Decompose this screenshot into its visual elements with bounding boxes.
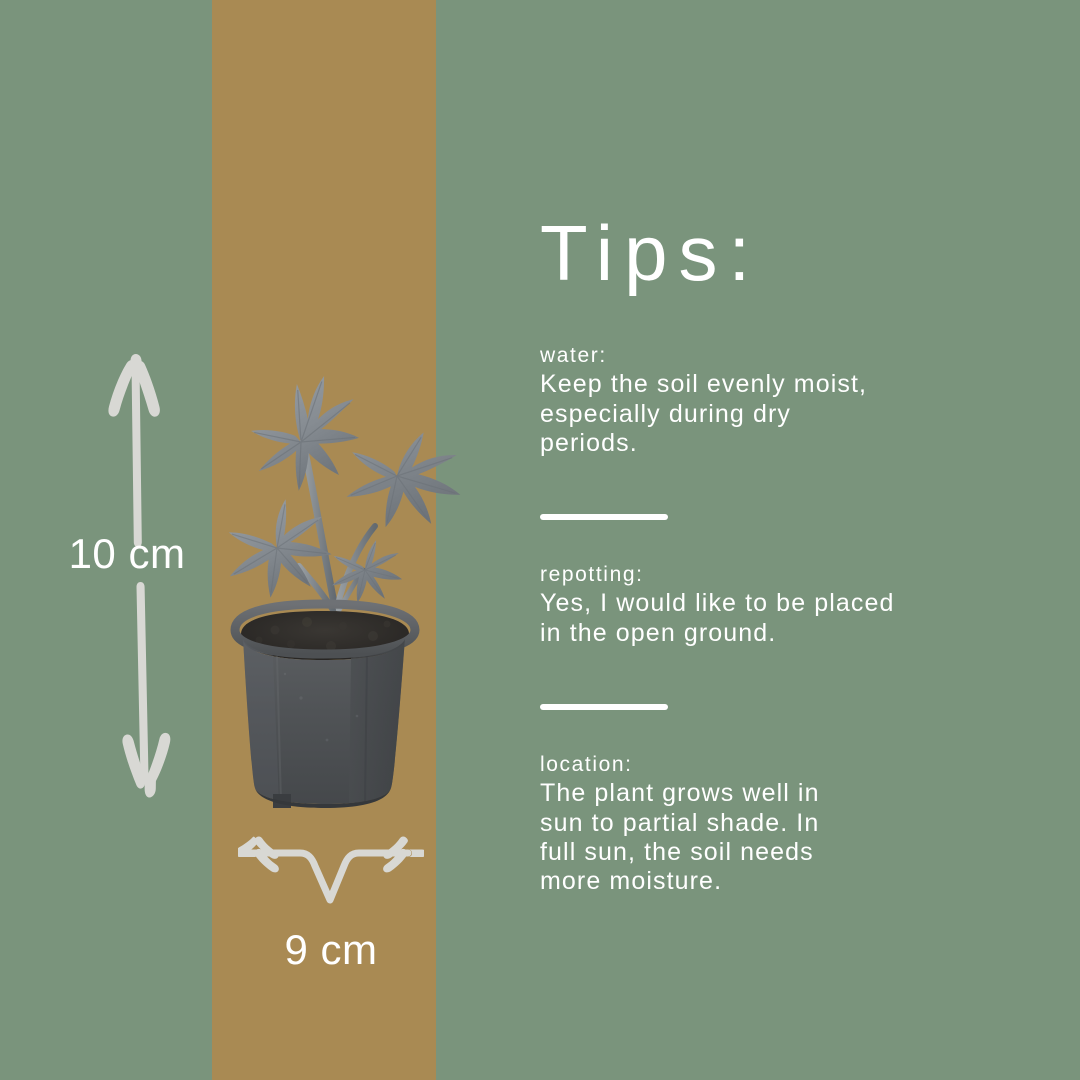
product-plant-image bbox=[215, 368, 485, 810]
tip-body-location: The plant grows well in sun to partial s… bbox=[540, 779, 1040, 896]
tip-item-location: location: The plant grows well in sun to… bbox=[540, 751, 1040, 896]
tip-body-water: Keep the soil evenly moist, especially d… bbox=[540, 370, 1040, 458]
tip-label-repotting: repotting: bbox=[540, 561, 1040, 589]
tip-item-repotting: repotting: Yes, I would like to be place… bbox=[540, 561, 1040, 648]
tips-title: Tips: bbox=[540, 214, 1040, 292]
tip-label-water: water: bbox=[540, 342, 1040, 370]
tip-body-repotting: Yes, I would like to be placed in the op… bbox=[540, 589, 1040, 648]
height-label: 10 cm bbox=[52, 524, 202, 584]
tips-panel: Tips: water: Keep the soil evenly moist,… bbox=[540, 214, 1040, 896]
spacer-after-repotting bbox=[540, 648, 1040, 704]
spacer-after-water bbox=[540, 458, 1040, 514]
tip-label-location: location: bbox=[540, 751, 1040, 779]
spacer-title bbox=[540, 292, 1040, 342]
poster-canvas: 10 cm bbox=[0, 0, 1080, 1080]
spacer-before-location bbox=[540, 710, 1040, 751]
tip-item-water: water: Keep the soil evenly moist, espec… bbox=[540, 342, 1040, 458]
spacer-before-repotting bbox=[540, 520, 1040, 561]
width-measure-arrow bbox=[238, 836, 424, 910]
width-label: 9 cm bbox=[253, 922, 409, 978]
